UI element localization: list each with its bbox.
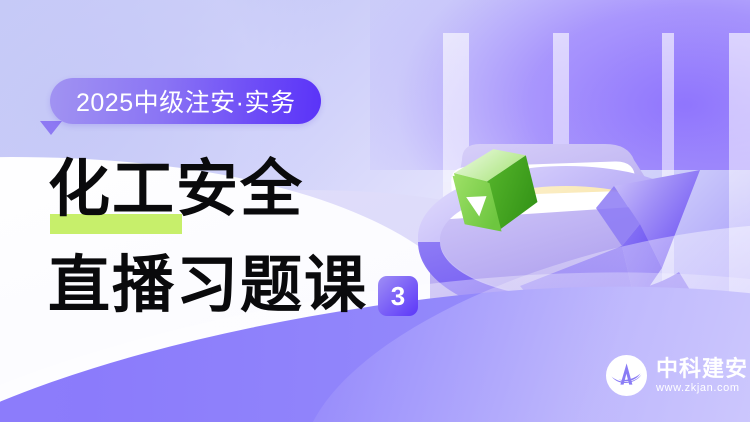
brand-name: 中科建安 xyxy=(656,357,748,380)
page-title: 化工安全 直播习题课 3 xyxy=(48,152,468,322)
brand-logo: 中科建安 www.zkjan.com xyxy=(606,355,748,396)
episode-number-badge: 3 xyxy=(378,276,418,316)
course-subtitle-badge: 2025中级注安·实务 xyxy=(50,78,321,124)
title-line-1: 化工安全 xyxy=(48,152,304,226)
zkjan-circle-logo-icon xyxy=(606,355,647,396)
title-line-2-row: 直播习题课 3 xyxy=(48,248,468,322)
title-line-1-row: 化工安全 xyxy=(48,152,468,226)
brand-text: 中科建安 www.zkjan.com xyxy=(656,357,748,394)
brand-url: www.zkjan.com xyxy=(656,382,748,394)
badge-label: 2025中级注安·实务 xyxy=(50,78,321,124)
title-line-2: 直播习题课 xyxy=(48,248,368,322)
course-banner: 2025中级注安·实务 化工安全 直播习题课 3 中科建安 www.zkjan.… xyxy=(0,0,750,422)
